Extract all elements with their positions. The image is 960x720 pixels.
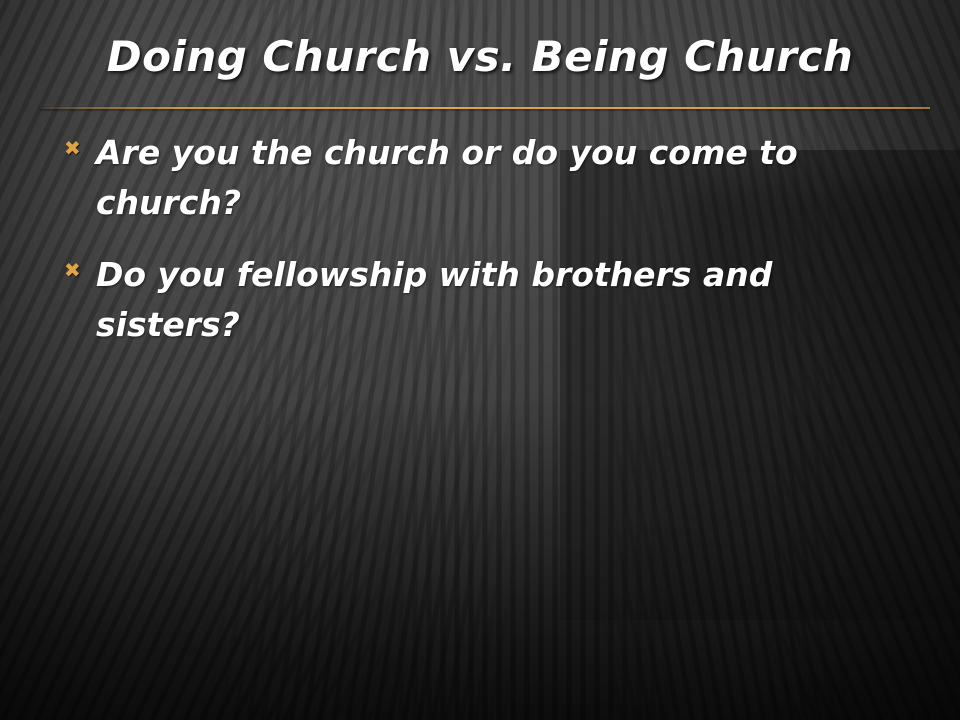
slide-content: Doing Church vs. Being Church ✖ Are you … <box>0 0 960 720</box>
bullet-list: ✖ Are you the church or do you come to c… <box>58 128 868 372</box>
title-underline-rule <box>40 107 930 109</box>
page-title: Doing Church vs. Being Church <box>0 32 960 82</box>
list-item-text: Do you fellowship with brothers and sist… <box>96 250 868 350</box>
x-mark-bullet-icon: ✖ <box>64 140 81 157</box>
x-mark-bullet-icon: ✖ <box>64 262 81 279</box>
presentation-slide: Doing Church vs. Being Church ✖ Are you … <box>0 0 960 720</box>
list-item: ✖ Do you fellowship with brothers and si… <box>58 250 868 350</box>
list-item: ✖ Are you the church or do you come to c… <box>58 128 868 228</box>
list-item-text: Are you the church or do you come to chu… <box>96 128 868 228</box>
